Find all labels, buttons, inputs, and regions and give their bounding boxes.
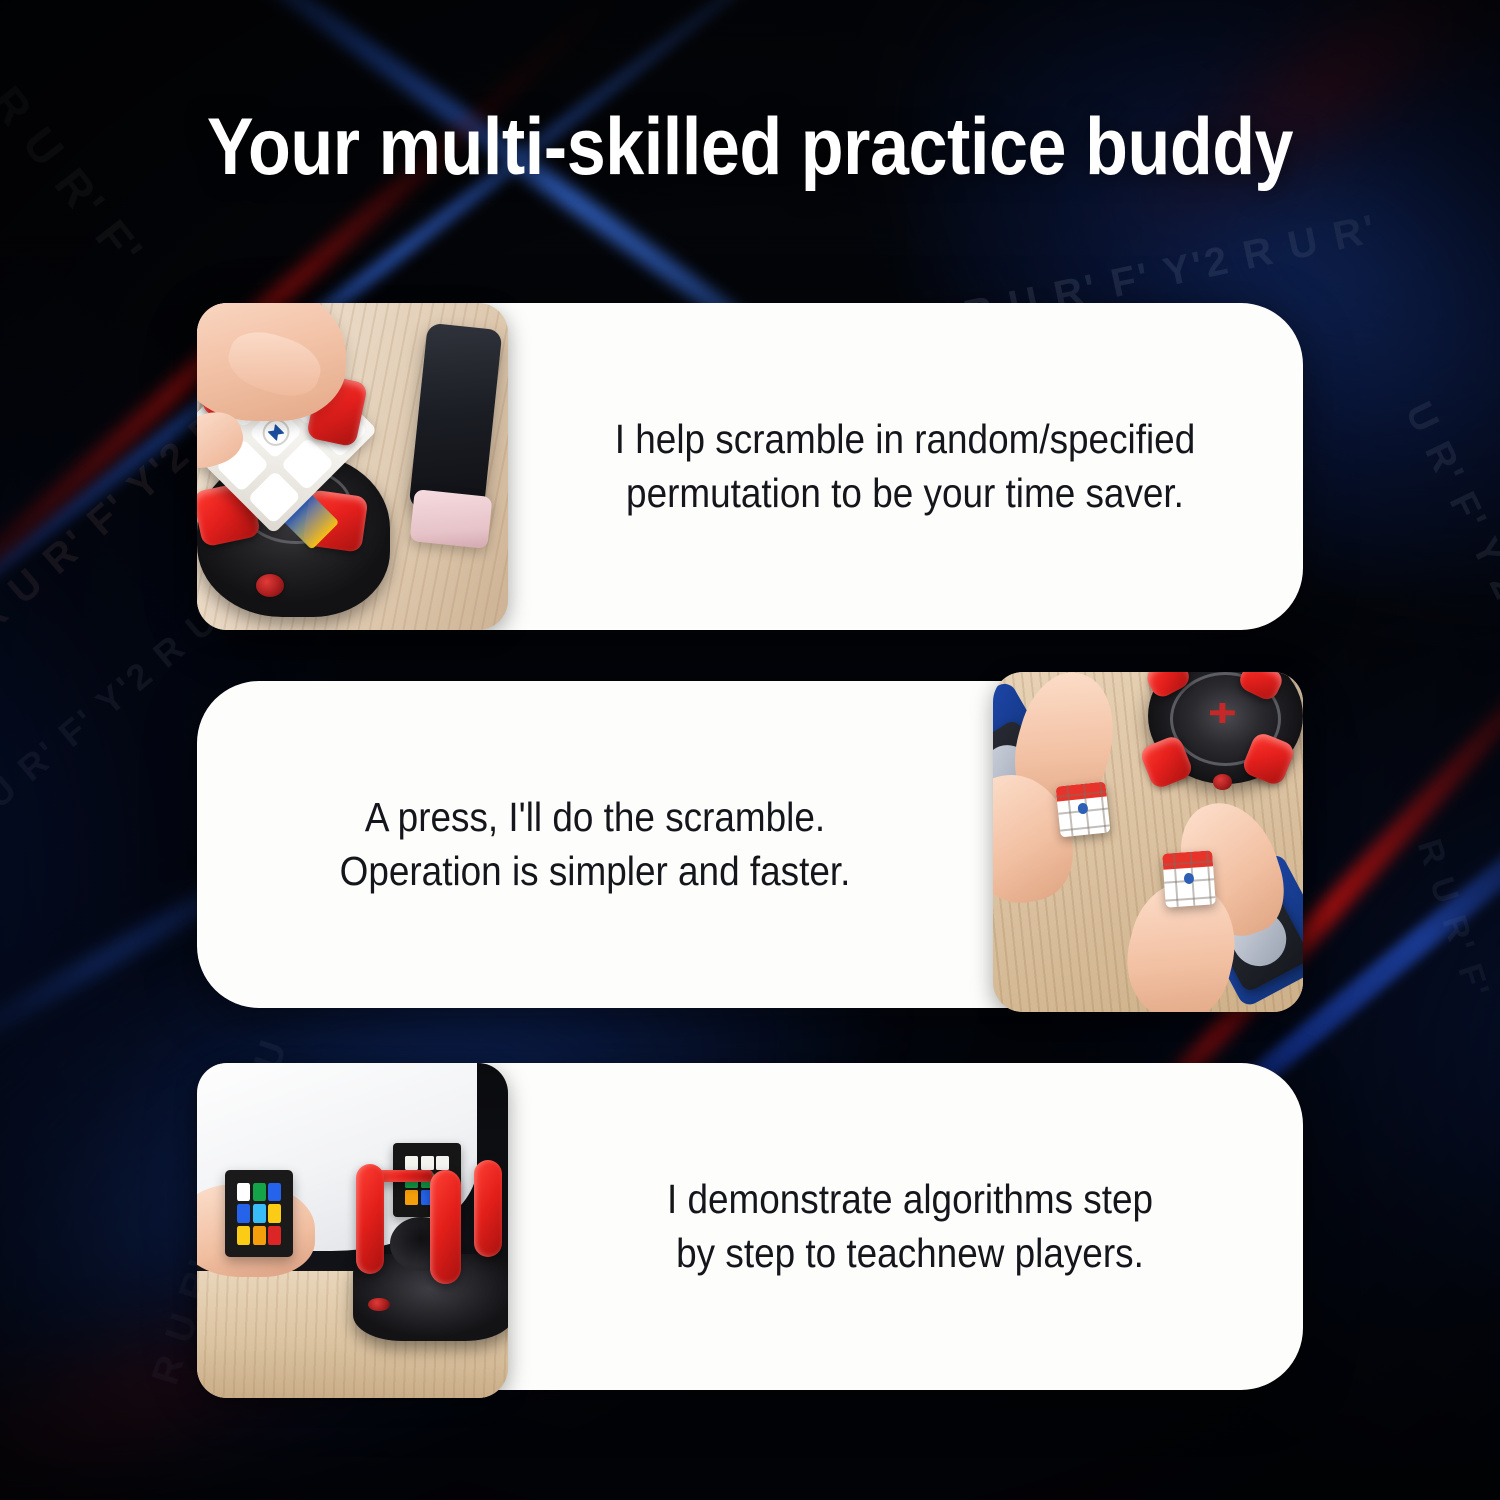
- feature-card-1-text: I help scramble in random/specified perm…: [559, 303, 1252, 630]
- speed-cube-in-hand: [225, 1170, 293, 1257]
- robot-gripper-arm: [356, 1164, 384, 1275]
- robot-power-button: [1213, 774, 1232, 790]
- speed-cube: [1162, 851, 1215, 909]
- robot-gripper-bar: [377, 1170, 433, 1182]
- phone-stand: [409, 489, 492, 549]
- feature-card-3-text: I demonstrate algorithms step by step to…: [568, 1063, 1252, 1390]
- robot-gripper-arm: [474, 1160, 502, 1257]
- robot-gripper-arm: [430, 1170, 461, 1284]
- speed-cube: [1056, 782, 1111, 838]
- feature-card-1-line-1: I help scramble in random/specified: [615, 413, 1195, 466]
- feature-card-2-photo: [993, 672, 1303, 1012]
- feature-card-3-photo: [197, 1063, 508, 1398]
- feature-card-2-line-2: Operation is simpler and faster.: [340, 845, 851, 898]
- robot-power-button: [368, 1298, 390, 1311]
- feature-card-3-line-1: I demonstrate algorithms step: [667, 1173, 1153, 1226]
- feature-card-2-line-1: A press, I'll do the scramble.: [365, 791, 825, 844]
- promo-poster: R U R' F' R U R' F' Y'2 R U R R U R' F' …: [0, 0, 1500, 1500]
- cube-brand-logo: [1183, 873, 1194, 885]
- page-title: Your multi-skilled practice buddy: [101, 104, 1399, 191]
- feature-card-3-line-2: by step to teachnew players.: [676, 1227, 1144, 1280]
- feature-card-1-photo: [197, 303, 508, 630]
- feature-card-1-line-2: permutation to be your time saver.: [626, 467, 1184, 520]
- feature-card-2-text: A press, I'll do the scramble. Operation…: [253, 681, 937, 1008]
